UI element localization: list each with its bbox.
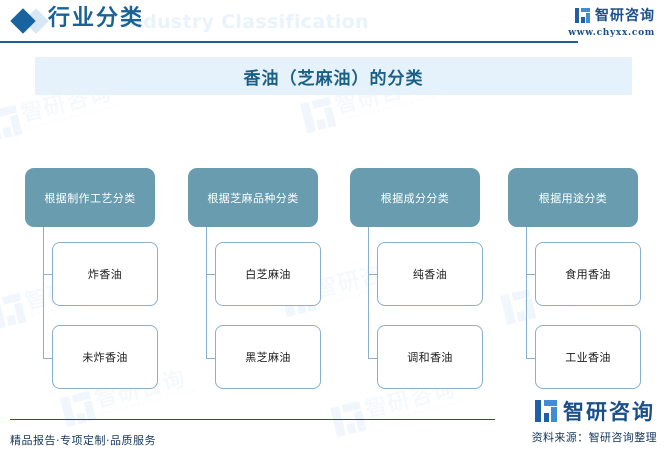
- brand-mark-icon: [535, 400, 557, 422]
- footer-brand-name: 智研咨询: [563, 396, 655, 426]
- footer-brand-logo: 智研咨询: [535, 396, 655, 426]
- footer-slogan: 精品报告·专项定制·品质服务: [10, 432, 156, 448]
- footer-source: 资料来源：智研咨询整理: [532, 429, 657, 445]
- footer-divider: [10, 419, 495, 420]
- page-footer: 智研咨询 精品报告·专项定制·品质服务 资料来源：智研咨询整理: [0, 0, 665, 464]
